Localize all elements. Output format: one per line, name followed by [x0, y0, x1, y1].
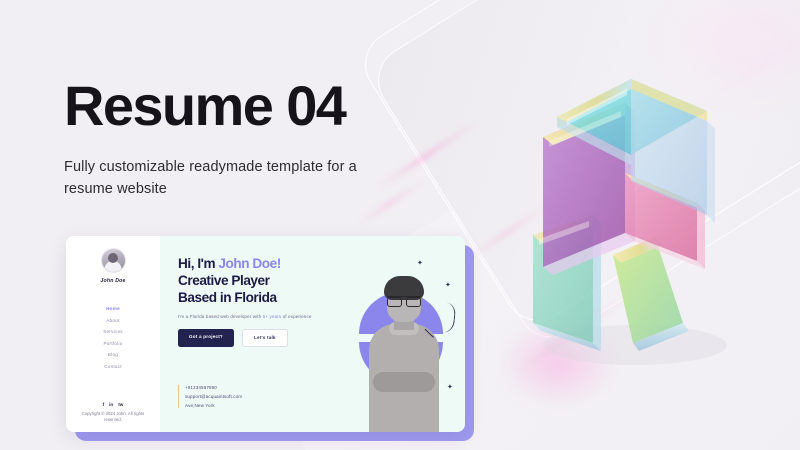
social-links: f in tw [70, 402, 156, 407]
sidebar-item-services[interactable]: Services [103, 329, 123, 334]
sidebar-item-portfolio[interactable]: Portfolio [103, 341, 122, 346]
preview-hero: Hi, I'm John Doe! Creative Player Based … [160, 236, 465, 432]
preview-sidebar: John Doe Home About Services Portfolio B… [66, 236, 160, 432]
sparkle-icon: ✦ [447, 384, 453, 391]
sparkle-icon: ✦ [417, 260, 423, 267]
contact-address: Ave,New York [185, 403, 242, 408]
headline-block: Resume 04 Fully customizable readymade t… [64, 78, 394, 201]
sidebar-item-contact[interactable]: Contact [104, 364, 122, 369]
copyright-text: Copyright © 2024 John. All rights reserv… [70, 411, 156, 424]
squiggle-arrow-icon [428, 301, 457, 334]
hero-name: John Doe! [218, 256, 280, 271]
facebook-icon[interactable]: f [103, 402, 105, 407]
contact-phone[interactable]: +91234567890 [185, 385, 242, 390]
preview-sidebar-footer: f in tw Copyright © 2024 John. All right… [70, 402, 156, 424]
hero-heading-line2: Creative Player [178, 273, 270, 288]
glasses-icon [387, 296, 421, 304]
contact-email[interactable]: support@acquaintsoft.com [185, 394, 242, 399]
sidebar-item-about[interactable]: About [106, 318, 119, 323]
hero-heading-line3: Based in Florida [178, 290, 277, 305]
avatar-name: John Doe [100, 278, 125, 284]
hero-greeting: Hi, I'm [178, 256, 218, 271]
resume-template-card[interactable]: John Doe Home About Services Portfolio B… [66, 236, 465, 432]
page-subtitle: Fully customizable readymade template fo… [64, 156, 394, 201]
hero-subtitle-highlight: 5+ years [263, 314, 282, 319]
portrait-photo [361, 268, 447, 432]
avatar [101, 248, 126, 273]
hero-subtitle-post: of experience [281, 314, 311, 319]
sidebar-item-blog[interactable]: Blog [108, 352, 118, 357]
portrait-arms [373, 372, 435, 392]
preview-nav: Home About Services Portfolio Blog Conta… [103, 306, 123, 369]
lets-talk-button[interactable]: Let's talk [242, 329, 288, 347]
linkedin-icon[interactable]: in [109, 402, 113, 407]
got-a-project-button[interactable]: Got a project? [178, 329, 234, 347]
sparkle-icon: ✦ [445, 282, 451, 289]
template-preview[interactable]: John Doe Home About Services Portfolio B… [66, 236, 474, 441]
abstract-glass-prism-logo [515, 55, 745, 375]
twitter-icon[interactable]: tw [118, 402, 123, 407]
hero-contact-block: +91234567890 support@acquaintsoft.com Av… [178, 385, 242, 408]
sidebar-item-home[interactable]: Home [106, 306, 120, 311]
hero-subtitle-pre: I'm a Florida based web developer with [178, 314, 263, 319]
hero-portrait: ✦ ✦ ✦ [345, 256, 457, 432]
page-title: Resume 04 [64, 78, 394, 134]
